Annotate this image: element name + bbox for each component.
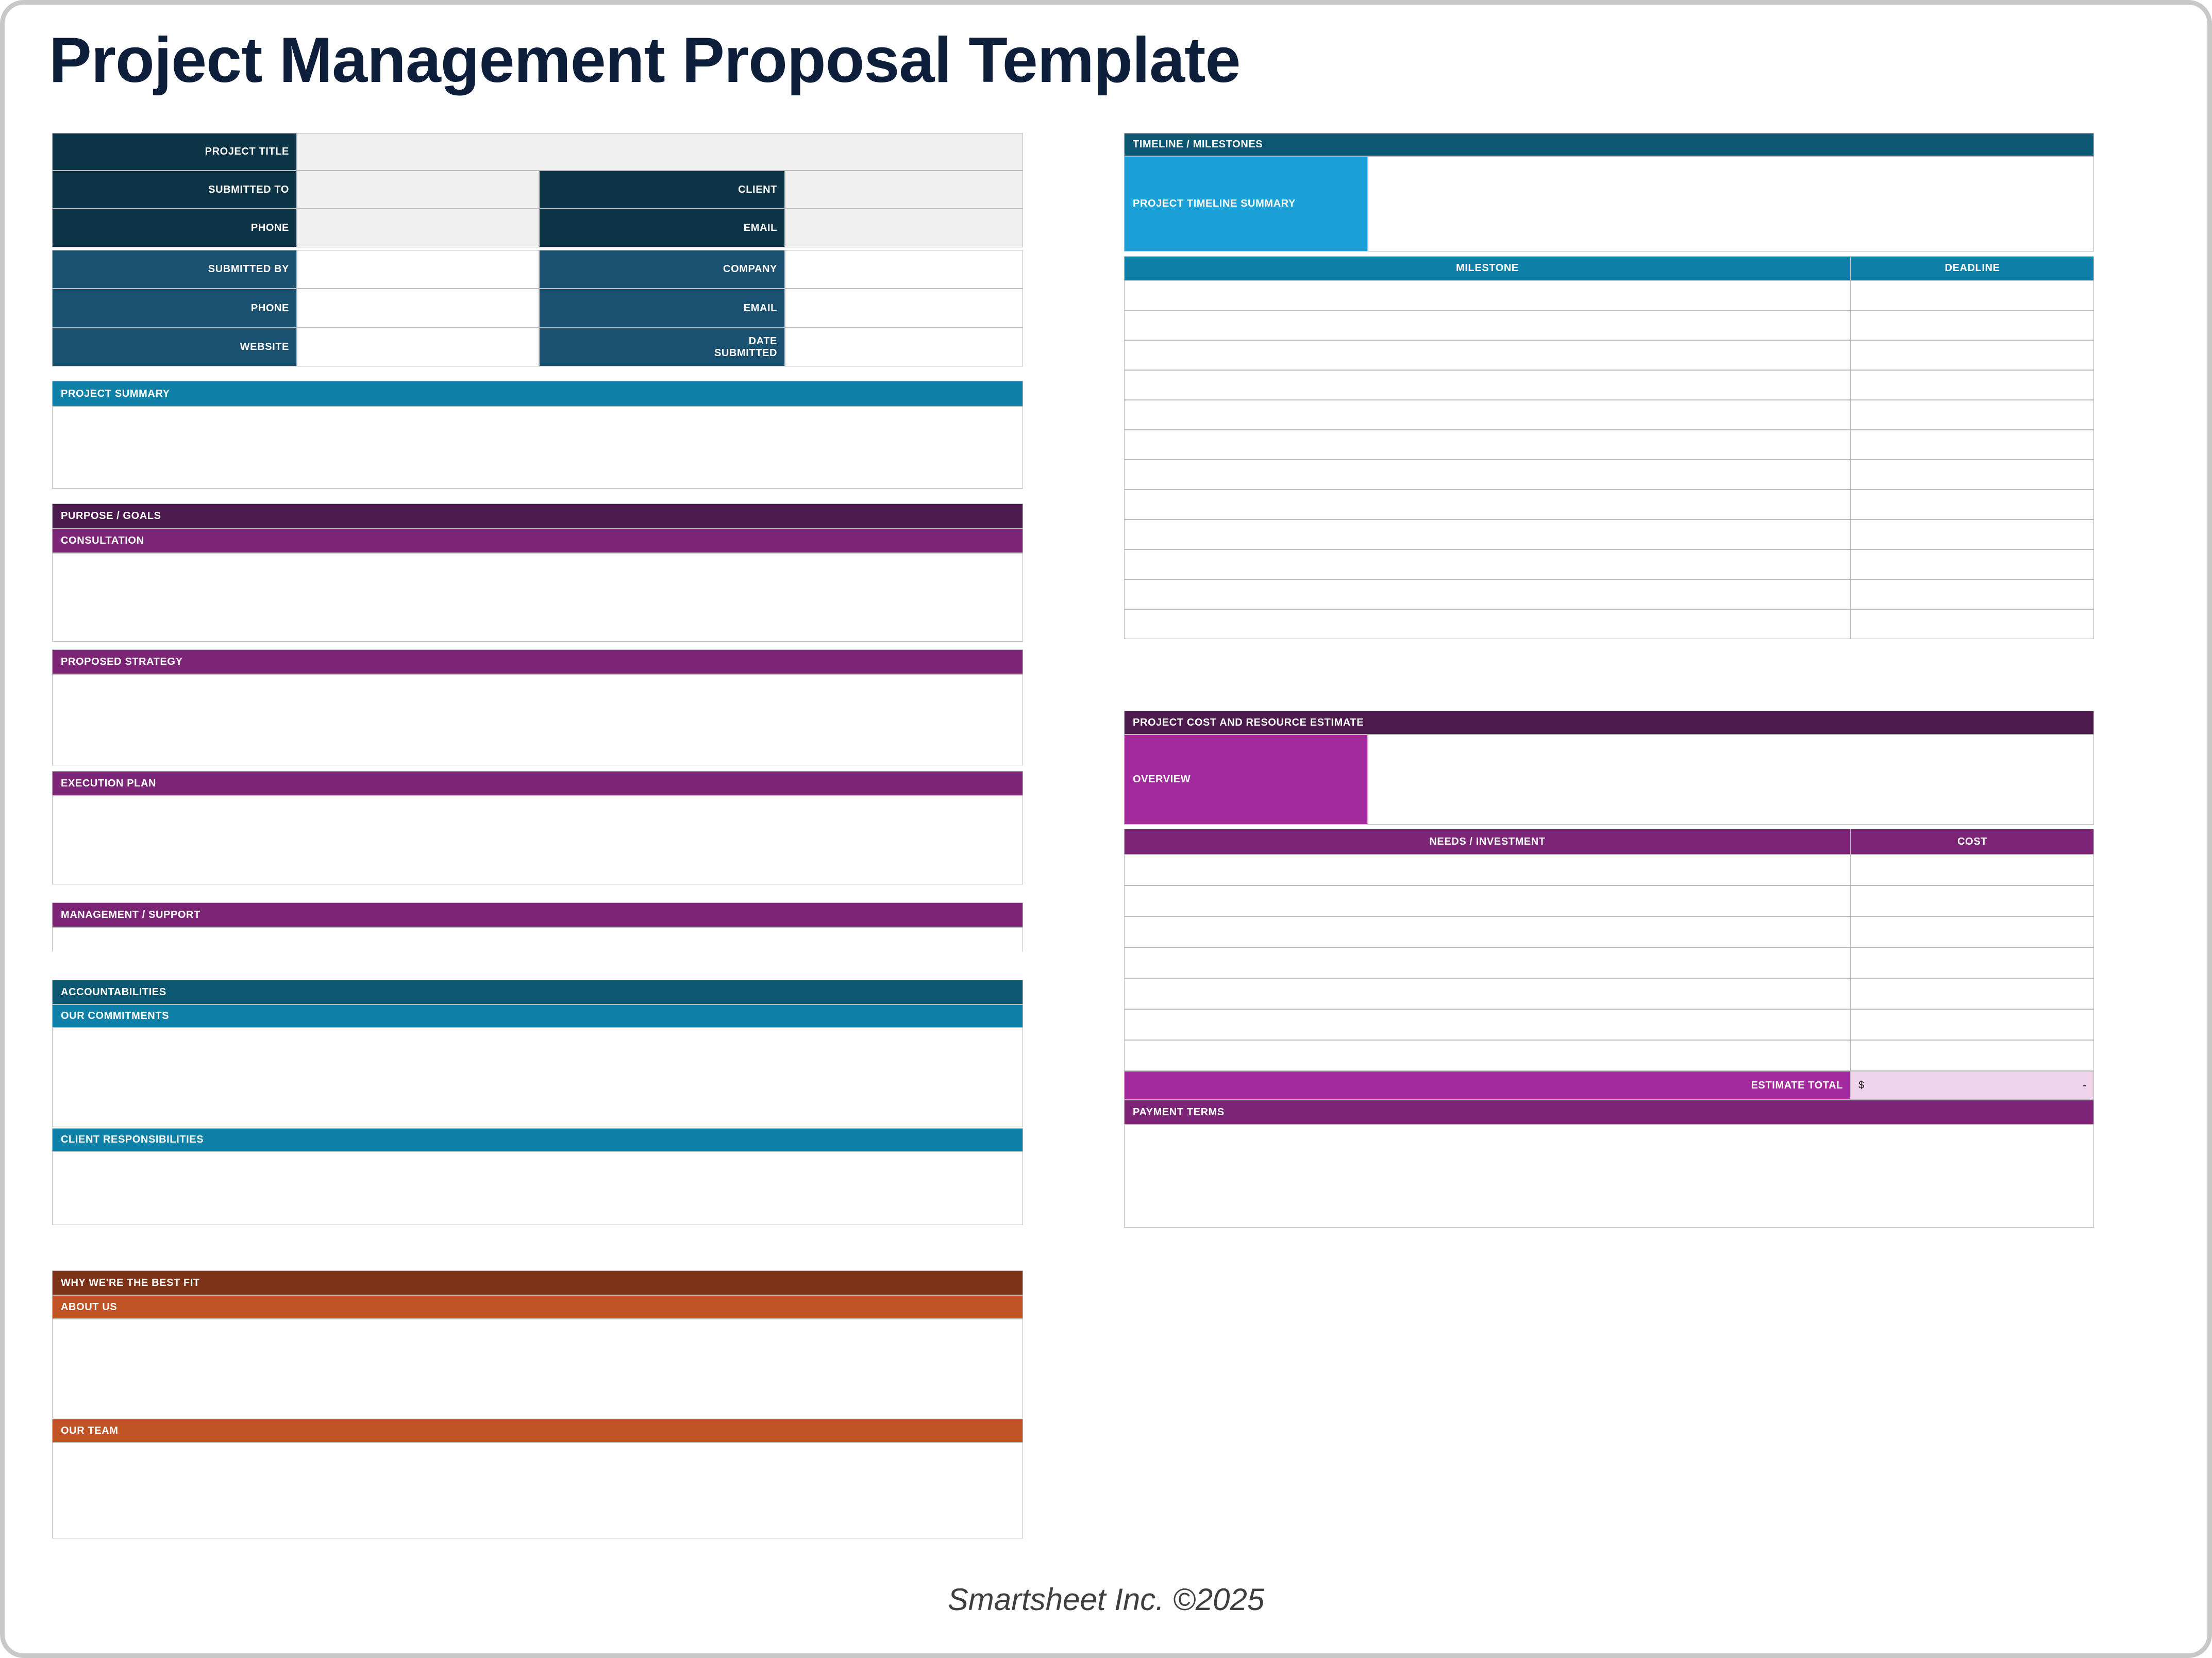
table-row[interactable]: [1124, 340, 1851, 370]
deadline-column-header: DEADLINE: [1851, 256, 2094, 280]
project-title-label: PROJECT TITLE: [52, 133, 297, 171]
date-submitted-label: DATE SUBMITTED: [539, 328, 785, 366]
table-row[interactable]: [1124, 1009, 1851, 1040]
table-row[interactable]: [1851, 400, 2094, 430]
estimate-total-label: ESTIMATE TOTAL: [1124, 1071, 1851, 1100]
table-row[interactable]: [1851, 460, 2094, 490]
date-submitted-input[interactable]: [785, 328, 1023, 366]
table-row[interactable]: [1851, 947, 2094, 978]
client-input[interactable]: [785, 171, 1023, 209]
proposed-strategy-body[interactable]: [52, 674, 1023, 765]
about-us-heading: ABOUT US: [52, 1295, 1023, 1319]
table-row[interactable]: [1124, 549, 1851, 579]
submitted-to-label: SUBMITTED TO: [52, 171, 297, 209]
payment-terms-heading: PAYMENT TERMS: [1124, 1100, 2094, 1125]
sender-email-label: EMAIL: [539, 289, 785, 328]
table-row[interactable]: [1124, 916, 1851, 947]
table-row[interactable]: [1124, 280, 1851, 310]
table-row[interactable]: [1851, 490, 2094, 520]
table-row[interactable]: [1851, 549, 2094, 579]
table-row[interactable]: [1851, 916, 2094, 947]
currency-symbol: $: [1858, 1080, 1864, 1092]
project-summary-body[interactable]: [52, 407, 1023, 489]
table-row[interactable]: [1851, 579, 2094, 609]
table-row[interactable]: [1124, 520, 1851, 549]
table-row[interactable]: [1851, 520, 2094, 549]
table-row[interactable]: [1851, 885, 2094, 916]
table-row[interactable]: [1124, 579, 1851, 609]
cost-overview-input[interactable]: [1368, 734, 2094, 825]
execution-plan-heading: EXECUTION PLAN: [52, 771, 1023, 796]
table-row[interactable]: [1124, 885, 1851, 916]
table-row[interactable]: [1851, 1009, 2094, 1040]
sender-email-input[interactable]: [785, 289, 1023, 328]
table-row[interactable]: [1124, 947, 1851, 978]
table-row[interactable]: [1124, 370, 1851, 400]
client-phone-input[interactable]: [297, 209, 539, 247]
submitted-by-label: SUBMITTED BY: [52, 250, 297, 289]
table-row[interactable]: [1851, 855, 2094, 885]
project-timeline-summary-input[interactable]: [1368, 156, 2094, 252]
our-team-heading: OUR TEAM: [52, 1419, 1023, 1443]
payment-terms-body[interactable]: [1124, 1125, 2094, 1228]
table-row[interactable]: [1851, 609, 2094, 639]
client-responsibilities-heading: CLIENT RESPONSIBILITIES: [52, 1128, 1023, 1151]
project-title-input[interactable]: [297, 133, 1023, 171]
document-page: Project Management Proposal Template PRO…: [0, 0, 2212, 1658]
footer-copyright: Smartsheet Inc. ©2025: [5, 1582, 2207, 1617]
table-row[interactable]: [1124, 1040, 1851, 1071]
purpose-goals-heading: PURPOSE / GOALS: [52, 504, 1023, 528]
table-row[interactable]: [1124, 460, 1851, 490]
our-commitments-heading: OUR COMMITMENTS: [52, 1004, 1023, 1028]
execution-plan-body[interactable]: [52, 796, 1023, 884]
client-phone-label: PHONE: [52, 209, 297, 247]
page-title: Project Management Proposal Template: [49, 28, 1240, 92]
cost-estimate-heading: PROJECT COST AND RESOURCE ESTIMATE: [1124, 711, 2094, 734]
table-row[interactable]: [1851, 340, 2094, 370]
estimate-total-value: $ -: [1851, 1071, 2094, 1100]
estimate-total-amount: -: [2083, 1080, 2086, 1092]
client-responsibilities-body[interactable]: [52, 1151, 1023, 1225]
consultation-body[interactable]: [52, 553, 1023, 642]
table-row[interactable]: [1124, 609, 1851, 639]
table-row[interactable]: [1124, 430, 1851, 460]
submitted-by-input[interactable]: [297, 250, 539, 289]
table-row[interactable]: [1124, 310, 1851, 340]
project-timeline-summary-label: PROJECT TIMELINE SUMMARY: [1124, 156, 1368, 252]
submitted-to-input[interactable]: [297, 171, 539, 209]
client-email-input[interactable]: [785, 209, 1023, 247]
needs-investment-column-header: NEEDS / INVESTMENT: [1124, 829, 1851, 855]
table-row[interactable]: [1124, 490, 1851, 520]
table-row[interactable]: [1124, 855, 1851, 885]
our-team-body[interactable]: [52, 1443, 1023, 1538]
consultation-heading: CONSULTATION: [52, 528, 1023, 553]
about-us-body[interactable]: [52, 1319, 1023, 1418]
client-label: CLIENT: [539, 171, 785, 209]
table-row[interactable]: [1124, 978, 1851, 1009]
table-row[interactable]: [1851, 370, 2094, 400]
table-row[interactable]: [1124, 400, 1851, 430]
best-fit-heading: WHY WE'RE THE BEST FIT: [52, 1270, 1023, 1295]
accountabilities-heading: ACCOUNTABILITIES: [52, 980, 1023, 1004]
management-support-body[interactable]: [52, 927, 1023, 952]
timeline-heading: TIMELINE / MILESTONES: [1124, 133, 2094, 156]
table-row[interactable]: [1851, 430, 2094, 460]
company-input[interactable]: [785, 250, 1023, 289]
cost-column-header: COST: [1851, 829, 2094, 855]
sender-phone-label: PHONE: [52, 289, 297, 328]
company-label: COMPANY: [539, 250, 785, 289]
client-email-label: EMAIL: [539, 209, 785, 247]
table-row[interactable]: [1851, 310, 2094, 340]
website-label: WEBSITE: [52, 328, 297, 366]
milestone-column-header: MILESTONE: [1124, 256, 1851, 280]
table-row[interactable]: [1851, 1040, 2094, 1071]
management-support-heading: MANAGEMENT / SUPPORT: [52, 902, 1023, 927]
cost-overview-label: OVERVIEW: [1124, 734, 1368, 825]
table-row[interactable]: [1851, 978, 2094, 1009]
sender-phone-input[interactable]: [297, 289, 539, 328]
project-summary-heading: PROJECT SUMMARY: [52, 381, 1023, 407]
proposed-strategy-heading: PROPOSED STRATEGY: [52, 649, 1023, 674]
table-row[interactable]: [1851, 280, 2094, 310]
website-input[interactable]: [297, 328, 539, 366]
our-commitments-body[interactable]: [52, 1028, 1023, 1127]
